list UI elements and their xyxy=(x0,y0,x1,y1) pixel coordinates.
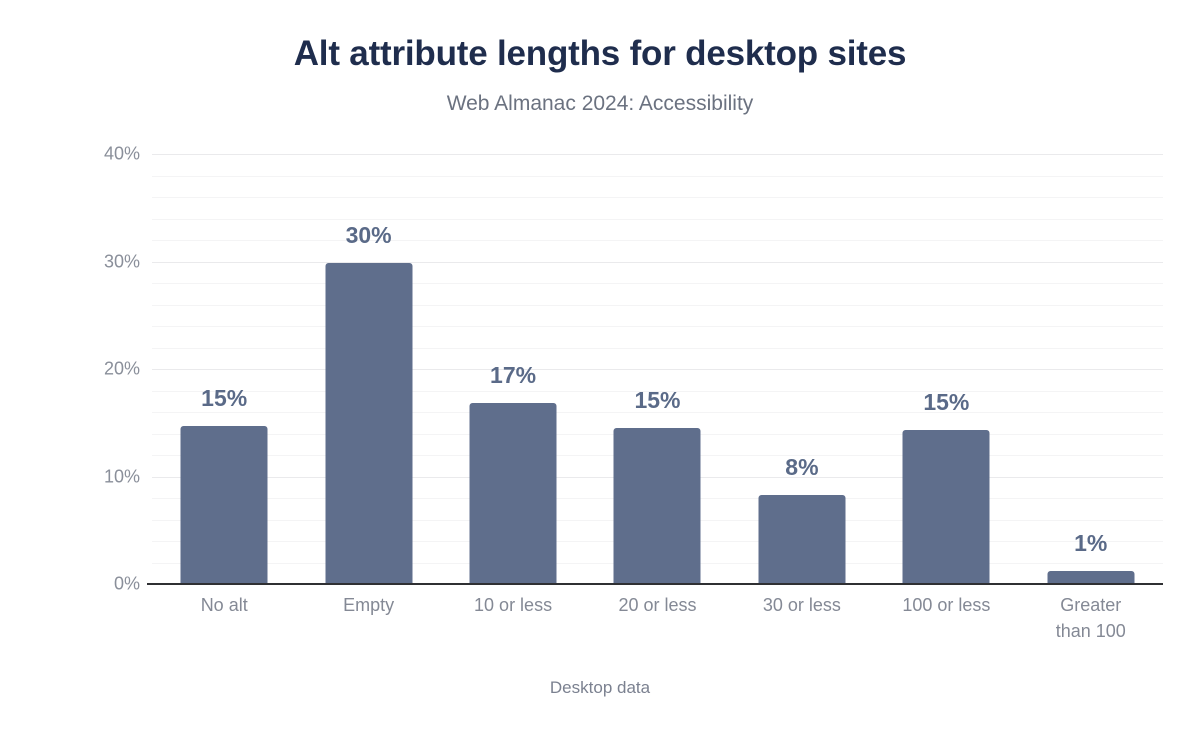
x-axis-tick-label: Greaterthan 100 xyxy=(1019,592,1163,644)
bar-group[interactable]: 1% xyxy=(1019,154,1163,584)
y-axis-ticks: 0%10%20%30%40% xyxy=(78,154,140,584)
x-axis-tick-line: Greater xyxy=(1019,592,1163,618)
bar[interactable] xyxy=(614,428,701,584)
y-axis-tick-label: 30% xyxy=(78,251,140,272)
x-axis-tick-line: 30 or less xyxy=(730,592,874,618)
y-axis-tick-label: 40% xyxy=(78,144,140,165)
chart-title: Alt attribute lengths for desktop sites xyxy=(0,32,1200,76)
x-axis-tick-label: No alt xyxy=(152,592,296,618)
x-axis-tick-line: than 100 xyxy=(1019,618,1163,644)
bar-group[interactable]: 8% xyxy=(730,154,874,584)
bar-group[interactable]: 15% xyxy=(874,154,1018,584)
bar-group[interactable]: 15% xyxy=(152,154,296,584)
bar[interactable] xyxy=(470,403,557,584)
x-axis-tick-label: Empty xyxy=(296,592,440,618)
x-axis-title: Desktop data xyxy=(0,678,1200,698)
bar[interactable] xyxy=(325,263,412,584)
x-axis-tick-label: 20 or less xyxy=(585,592,729,618)
bar[interactable] xyxy=(181,426,268,584)
bar-value-label: 1% xyxy=(1074,530,1107,557)
y-axis-tick-label: 10% xyxy=(78,466,140,487)
bar-series: 15%30%17%15%8%15%1% xyxy=(152,154,1163,584)
x-axis-tick-line: 10 or less xyxy=(441,592,585,618)
bar[interactable] xyxy=(903,430,990,584)
x-axis-tick-label: 100 or less xyxy=(874,592,1018,618)
x-axis-baseline xyxy=(147,583,1163,585)
bar-value-label: 15% xyxy=(634,387,680,414)
x-axis-tick-label: 10 or less xyxy=(441,592,585,618)
chart-subtitle: Web Almanac 2024: Accessibility xyxy=(0,90,1200,118)
bar-group[interactable]: 17% xyxy=(441,154,585,584)
bar[interactable] xyxy=(758,495,845,584)
bar-value-label: 30% xyxy=(346,222,392,249)
x-axis-tick-line: 20 or less xyxy=(585,592,729,618)
bar-value-label: 15% xyxy=(923,389,969,416)
bar-value-label: 17% xyxy=(490,362,536,389)
x-axis-tick-line: No alt xyxy=(152,592,296,618)
y-axis-tick-label: 20% xyxy=(78,359,140,380)
x-axis-ticks: No altEmpty10 or less20 or less30 or les… xyxy=(152,592,1163,662)
bar-group[interactable]: 30% xyxy=(296,154,440,584)
bar-group[interactable]: 15% xyxy=(585,154,729,584)
chart-figure: Alt attribute lengths for desktop sites … xyxy=(0,0,1200,742)
y-axis-tick-label: 0% xyxy=(78,574,140,595)
x-axis-tick-line: Empty xyxy=(296,592,440,618)
x-axis-tick-label: 30 or less xyxy=(730,592,874,618)
x-axis-tick-line: 100 or less xyxy=(874,592,1018,618)
bar-value-label: 8% xyxy=(785,454,818,481)
bar-value-label: 15% xyxy=(201,385,247,412)
